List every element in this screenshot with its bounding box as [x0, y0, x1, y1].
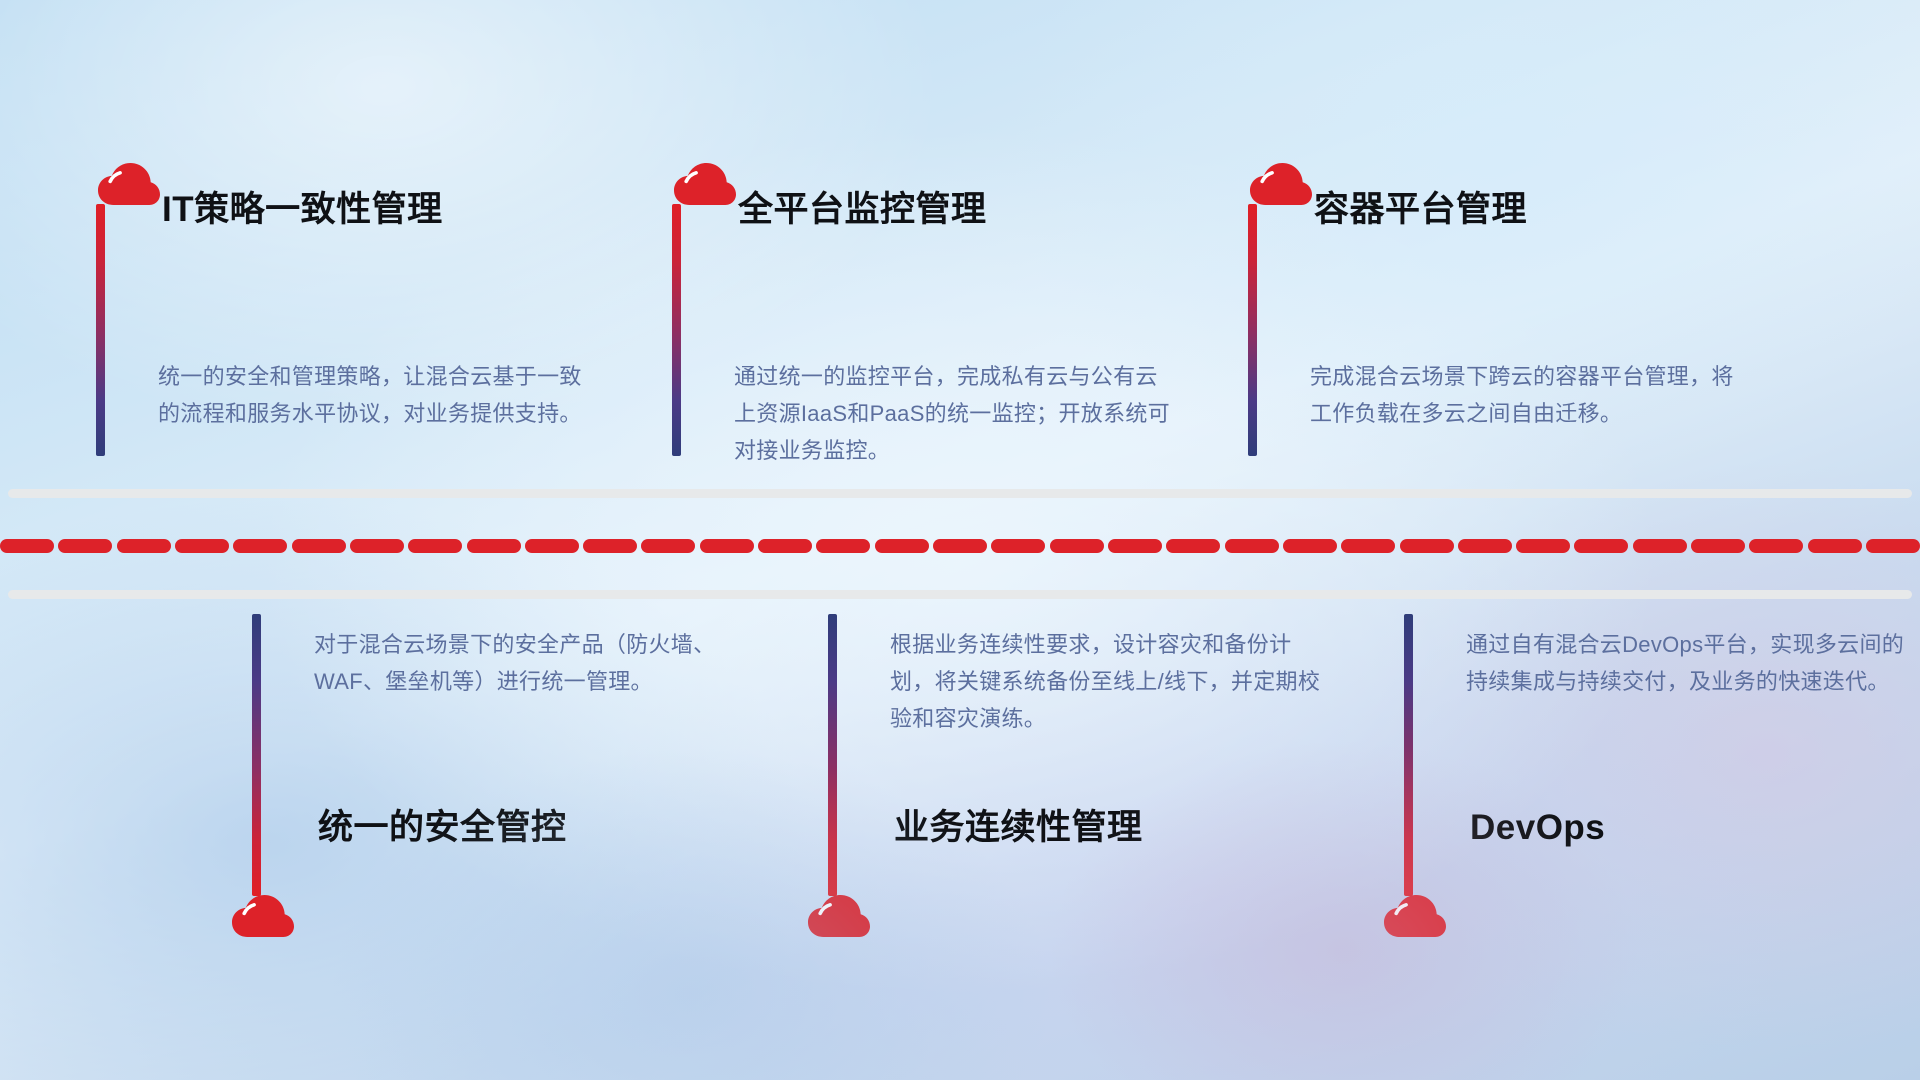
cloud-icon	[672, 160, 736, 208]
divider-dash	[117, 539, 171, 553]
divider-dash	[933, 539, 987, 553]
divider-dash	[1225, 539, 1279, 553]
divider-dash	[875, 539, 929, 553]
connector-line	[1404, 614, 1413, 896]
divider-dash	[758, 539, 812, 553]
divider-dash	[1808, 539, 1862, 553]
divider-dash	[641, 539, 695, 553]
divider-dash	[1458, 539, 1512, 553]
divider-dash	[1341, 539, 1395, 553]
divider-rule-bottom	[8, 590, 1912, 599]
divider-dash	[292, 539, 346, 553]
top-item-full-platform-monitoring: 全平台监控管理 通过统一的监控平台，完成私有云与公有云上资源IaaS和PaaS的…	[672, 160, 736, 208]
divider-dash	[583, 539, 637, 553]
divider-dash	[700, 539, 754, 553]
divider-dash	[1400, 539, 1454, 553]
item-heading: 全平台监控管理	[738, 192, 987, 227]
divider-dash	[1283, 539, 1337, 553]
center-divider	[0, 489, 1920, 599]
divider-dash	[1574, 539, 1628, 553]
divider-dash	[1166, 539, 1220, 553]
divider-dash	[175, 539, 229, 553]
divider-dash	[525, 539, 579, 553]
cloud-icon	[806, 892, 870, 940]
item-body: 对于混合云场景下的安全产品（防火墙、WAF、堡垒机等）进行统一管理。	[314, 626, 754, 700]
cloud-icon	[1382, 892, 1446, 940]
divider-dash	[1050, 539, 1104, 553]
item-body: 统一的安全和管理策略，让混合云基于一致的流程和服务水平协议，对业务提供支持。	[158, 358, 598, 432]
item-heading: DevOps	[1470, 810, 1605, 845]
divider-dash	[0, 539, 54, 553]
divider-dash	[1866, 539, 1920, 553]
connector-line	[672, 204, 681, 456]
connector-line	[1248, 204, 1257, 456]
divider-dash	[816, 539, 870, 553]
item-heading: IT策略一致性管理	[162, 192, 443, 227]
divider-dash	[1749, 539, 1803, 553]
divider-dash	[1691, 539, 1745, 553]
divider-dashed-line	[0, 539, 1920, 553]
connector-line	[828, 614, 837, 896]
divider-dash	[1633, 539, 1687, 553]
cloud-icon	[230, 892, 294, 940]
top-item-it-policy-consistency: IT策略一致性管理 统一的安全和管理策略，让混合云基于一致的流程和服务水平协议，…	[96, 160, 160, 208]
divider-dash	[1516, 539, 1570, 553]
item-heading: 统一的安全管控	[318, 810, 567, 845]
divider-dash	[991, 539, 1045, 553]
item-heading: 容器平台管理	[1314, 192, 1527, 227]
connector-line	[252, 614, 261, 896]
connector-line	[96, 204, 105, 456]
divider-rule-top	[8, 489, 1912, 498]
divider-dash	[1108, 539, 1162, 553]
item-heading: 业务连续性管理	[894, 810, 1143, 845]
item-body: 通过自有混合云DevOps平台，实现多云间的持续集成与持续交付，及业务的快速迭代…	[1466, 626, 1906, 700]
cloud-icon	[1248, 160, 1312, 208]
item-body: 根据业务连续性要求，设计容灾和备份计划，将关键系统备份至线上/线下，并定期校验和…	[890, 626, 1330, 737]
divider-dash	[233, 539, 287, 553]
top-item-container-platform: 容器平台管理 完成混合云场景下跨云的容器平台管理，将工作负载在多云之间自由迁移。	[1248, 160, 1312, 208]
infographic-canvas: IT策略一致性管理 统一的安全和管理策略，让混合云基于一致的流程和服务水平协议，…	[0, 0, 1920, 1080]
item-body: 完成混合云场景下跨云的容器平台管理，将工作负载在多云之间自由迁移。	[1310, 358, 1750, 432]
divider-dash	[467, 539, 521, 553]
divider-dash	[58, 539, 112, 553]
divider-dash	[350, 539, 404, 553]
cloud-icon	[96, 160, 160, 208]
item-body: 通过统一的监控平台，完成私有云与公有云上资源IaaS和PaaS的统一监控；开放系…	[734, 358, 1174, 469]
divider-dash	[408, 539, 462, 553]
